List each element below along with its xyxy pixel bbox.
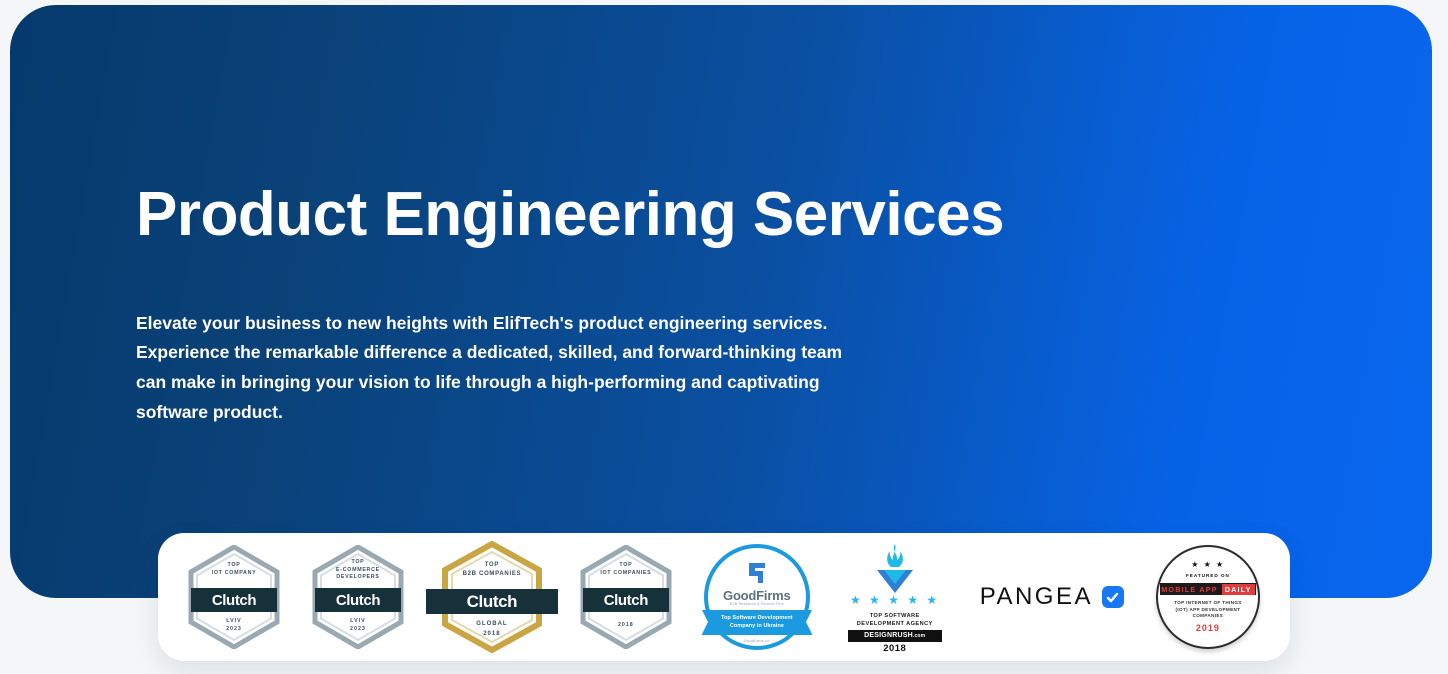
ribbon-notch-right-icon xyxy=(806,610,812,634)
clutch-wordmark-band: Clutch xyxy=(315,588,401,612)
clutch-wordmark: Clutch xyxy=(467,592,517,612)
badge-bottom-text: LVIV 2023 xyxy=(312,617,404,634)
designrush-brand-com: .com xyxy=(913,633,925,639)
clutch-hexagon-badge-gold: TOP B2B COMPANIES Clutch GLOBAL 2018 xyxy=(436,541,548,653)
page-title: Product Engineering Services xyxy=(136,180,1004,249)
badge-bottom-text: GLOBAL 2018 xyxy=(436,620,548,639)
mobileappdaily-featured-label: FEATURED ON xyxy=(1158,573,1258,578)
designrush-brand-rush: RUSH xyxy=(892,632,913,639)
mobileappdaily-brand-1: MOBILE APP xyxy=(1161,585,1217,594)
awards-card: TOP IOT COMPANY Clutch LVIV 2023 xyxy=(158,533,1290,661)
award-badge-designrush[interactable]: ★ ★ ★ ★ ★ TOP SOFTWARE DEVELOPMENT AGENC… xyxy=(842,543,948,651)
page-root: Product Engineering Services Elevate you… xyxy=(0,0,1448,674)
award-badge-goodfirms[interactable]: GoodFirms B2B Research & Review Firm Top… xyxy=(704,543,810,651)
hero-description: Elevate your business to new heights wit… xyxy=(136,309,861,428)
clutch-wordmark: Clutch xyxy=(336,592,380,609)
pangea-logo: PANGEA xyxy=(980,583,1124,611)
clutch-wordmark-band: Clutch xyxy=(191,588,277,612)
goodfirms-ribbon-line-1: Top Software Development xyxy=(721,615,793,623)
clutch-hexagon-badge: TOP E-COMMERCE DEVELOPERS Clutch LVIV 20… xyxy=(312,545,404,649)
mobileappdaily-year: 2019 xyxy=(1158,623,1258,633)
clutch-wordmark-band: Clutch xyxy=(426,589,558,614)
mobileappdaily-title: TOP INTERNET OF THINGS (IOT) APP DEVELOP… xyxy=(1164,600,1252,620)
clutch-wordmark-band: Clutch xyxy=(583,588,669,612)
badge-top-text: TOP B2B COMPANIES xyxy=(436,561,548,579)
goodfirms-tagline: B2B Research & Review Firm xyxy=(708,602,806,606)
designrush-brand-design: DESIGN xyxy=(864,632,892,639)
clutch-wordmark: Clutch xyxy=(212,592,256,609)
designrush-badge: ★ ★ ★ ★ ★ TOP SOFTWARE DEVELOPMENT AGENC… xyxy=(842,542,948,652)
award-badge-mobile-app-daily[interactable]: ★ ★ ★ FEATURED ON MOBILE APP DAILY TOP I… xyxy=(1156,543,1260,651)
designrush-flame-icon xyxy=(873,544,917,594)
badge-top-text: TOP IOT COMPANIES xyxy=(580,562,672,577)
goodfirms-url: Goodfirms.co xyxy=(708,638,806,643)
verified-check-icon xyxy=(1102,586,1124,608)
badge-top-text: TOP IOT COMPANY xyxy=(188,562,280,577)
award-badge-clutch-iot-company[interactable]: TOP IOT COMPANY Clutch LVIV 2023 xyxy=(188,543,280,651)
designrush-brand-bar: DESIGNRUSH.com xyxy=(848,630,942,642)
designrush-title: TOP SOFTWARE DEVELOPMENT AGENCY xyxy=(842,612,948,628)
goodfirms-circle-badge: GoodFirms B2B Research & Review Firm Top… xyxy=(704,544,810,650)
badge-bottom-text: 2018 xyxy=(580,621,672,629)
mobileappdaily-circle-badge: ★ ★ ★ FEATURED ON MOBILE APP DAILY TOP I… xyxy=(1156,545,1260,649)
goodfirms-ribbon-line-2: Company in Ukraine xyxy=(730,623,784,631)
designrush-stars: ★ ★ ★ ★ ★ xyxy=(842,594,948,606)
award-badge-pangea[interactable]: PANGEA xyxy=(980,543,1124,651)
award-badge-clutch-b2b-companies[interactable]: TOP B2B COMPANIES Clutch GLOBAL 2018 xyxy=(436,543,548,651)
hero-section: Product Engineering Services Elevate you… xyxy=(10,5,1432,598)
award-badge-clutch-ecommerce-developers[interactable]: TOP E-COMMERCE DEVELOPERS Clutch LVIV 20… xyxy=(312,543,404,651)
mobileappdaily-brand-bar: MOBILE APP DAILY xyxy=(1160,583,1256,595)
goodfirms-name: GoodFirms xyxy=(708,588,806,603)
ribbon-notch-left-icon xyxy=(702,610,708,634)
goodfirms-logo-icon xyxy=(746,562,768,584)
mobileappdaily-brand-2: DAILY xyxy=(1222,584,1255,595)
goodfirms-ribbon: Top Software Development Company in Ukra… xyxy=(702,610,812,635)
badge-top-text: TOP E-COMMERCE DEVELOPERS xyxy=(312,559,404,582)
clutch-wordmark: Clutch xyxy=(604,592,648,609)
clutch-hexagon-badge: TOP IOT COMPANY Clutch LVIV 2023 xyxy=(188,545,280,649)
mobileappdaily-stars: ★ ★ ★ xyxy=(1158,561,1258,569)
badge-bottom-text: LVIV 2023 xyxy=(188,617,280,634)
pangea-wordmark: PANGEA xyxy=(980,583,1093,611)
award-badge-clutch-iot-companies[interactable]: TOP IOT COMPANIES Clutch 2018 xyxy=(580,543,672,651)
clutch-hexagon-badge: TOP IOT COMPANIES Clutch 2018 xyxy=(580,545,672,649)
designrush-year: 2018 xyxy=(842,643,948,654)
